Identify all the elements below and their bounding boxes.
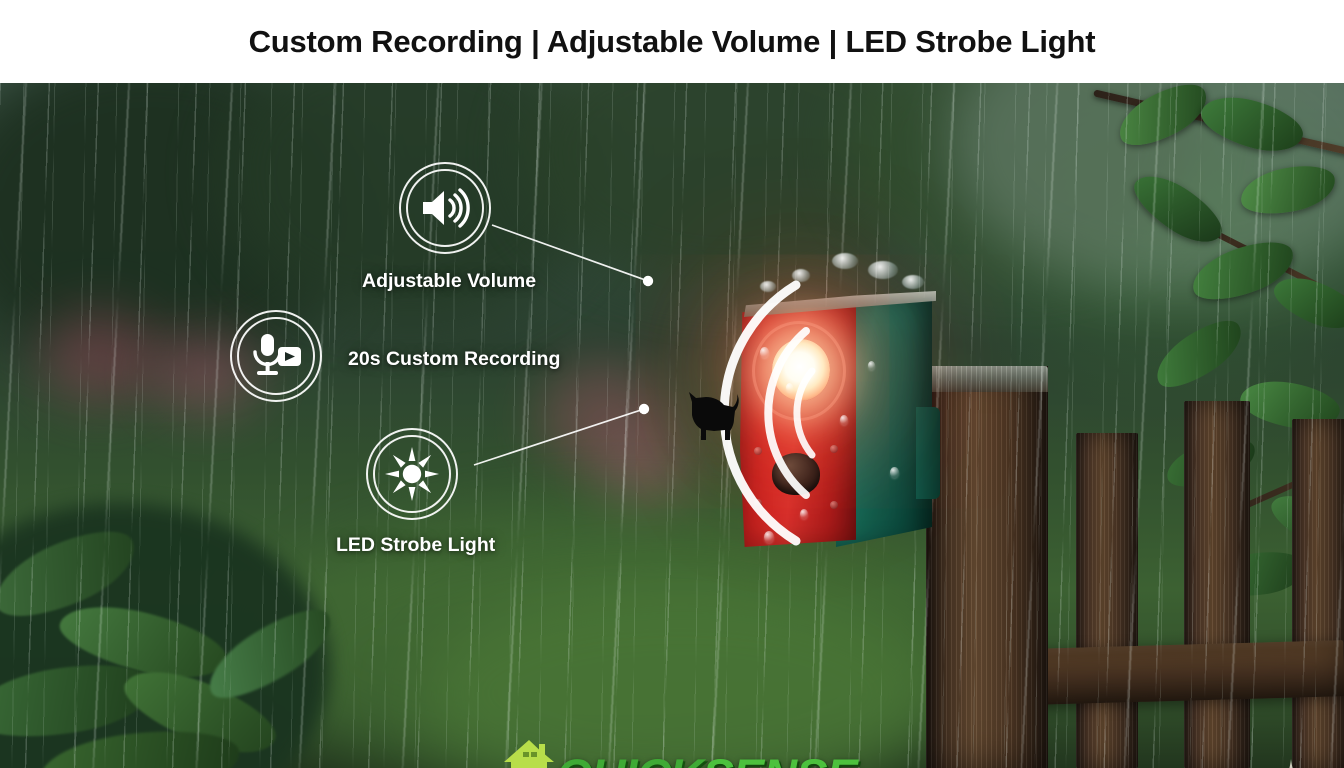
page-title: Custom Recording | Adjustable Volume | L… [249,24,1096,60]
icon-ring-inner [237,317,315,395]
brand-quick: QUICK [556,749,702,768]
scene-photo: Adjustable Volume 20s Custom Recording [0,83,1344,768]
callout-label-adjustable-volume: Adjustable Volume [362,270,536,293]
house-plug-icon [498,738,564,768]
icon-ring-inner [373,435,451,513]
callout-icon-custom-recording[interactable] [230,310,322,402]
brand-logo: QUICKSENSE SIMPLIFYING LIFE [498,738,828,768]
header-band: Custom Recording | Adjustable Volume | L… [0,0,1344,83]
icon-ring-inner [406,169,484,247]
callout-icon-led-strobe-light[interactable] [366,428,458,520]
water-droplet [890,467,899,478]
sparkle-star-icon [1262,759,1320,768]
fence-picket [1184,401,1250,768]
device-screw [830,501,838,509]
device-mount-bracket [916,407,940,499]
water-droplet [868,361,875,370]
fence-post [926,366,1048,768]
water-droplet [840,415,848,425]
product-banner: Custom Recording | Adjustable Volume | L… [0,0,1344,768]
fence-picket [1076,433,1138,768]
water-splash [868,261,898,279]
dog-silhouette-icon [680,388,742,444]
callout-icon-adjustable-volume[interactable] [399,162,491,254]
water-splash [832,253,858,269]
brand-sense: SENSE [702,749,856,768]
callout-label-led-strobe-light: LED Strobe Light [336,534,495,557]
brand-wordmark: QUICKSENSE [556,748,857,768]
fence-picket [1292,419,1344,768]
callout-label-custom-recording: 20s Custom Recording [348,348,560,371]
fence-rail [999,640,1344,706]
device-screw [830,445,838,453]
water-splash [902,275,924,289]
